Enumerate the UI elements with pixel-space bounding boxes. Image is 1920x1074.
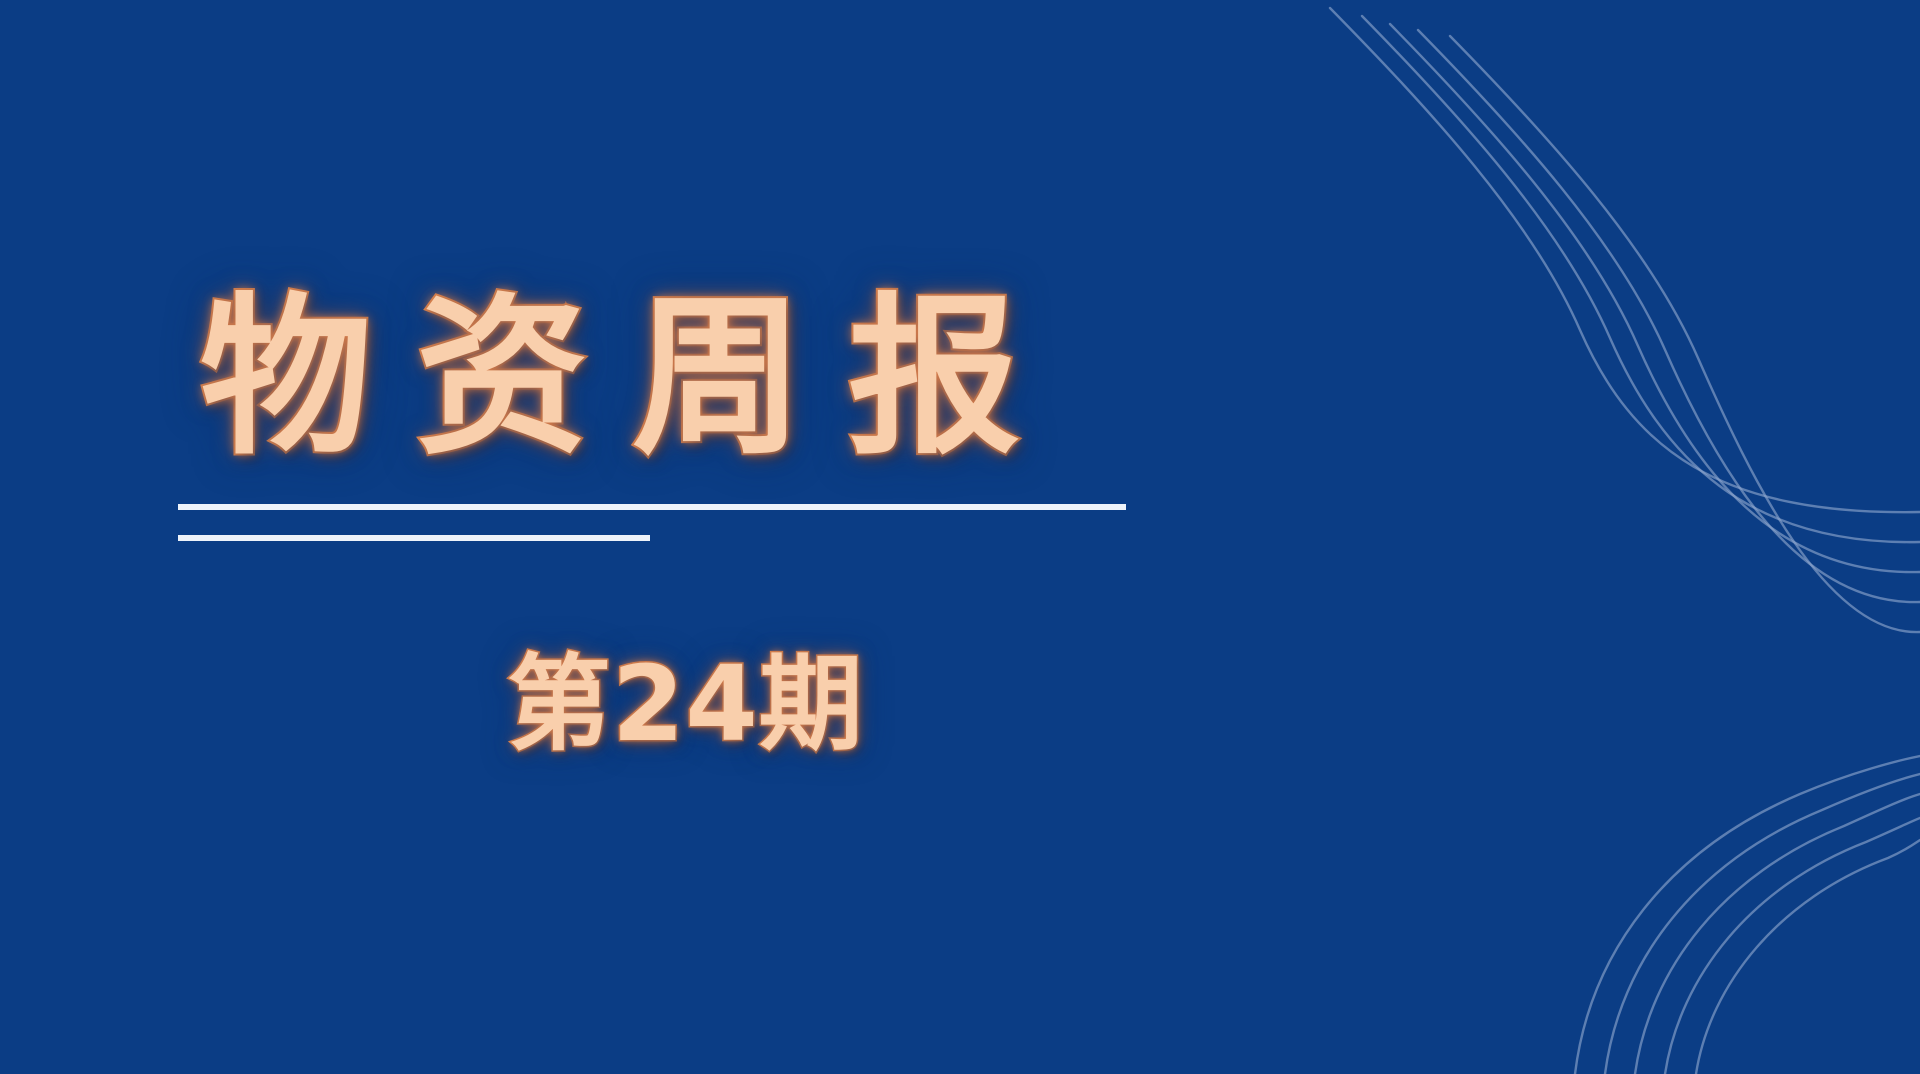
decor-curve [1575, 756, 1920, 1074]
decor-curve [1418, 30, 1920, 602]
decor-curve [1362, 16, 1920, 542]
title-underline-long [178, 504, 1126, 510]
decor-curve [1330, 8, 1920, 512]
decor-curve [1605, 774, 1920, 1074]
decor-curve [1665, 818, 1920, 1074]
decor-curves-top-right [1280, 0, 1920, 600]
decor-curve [1696, 840, 1920, 1074]
flowing-arc-curves-icon [1500, 734, 1920, 1074]
page-title: 物资周报 [200, 292, 1064, 464]
decor-curve [1635, 794, 1920, 1074]
decor-curve [1390, 24, 1920, 572]
title-slide: 物资周报 第24期 [0, 0, 1920, 1074]
decor-curve [1450, 36, 1920, 632]
flowing-s-curves-icon [1280, 0, 1920, 600]
title-underline-short [178, 535, 650, 541]
issue-number-label: 第24期 [507, 652, 864, 756]
decor-curves-bottom-right [1500, 734, 1920, 1074]
